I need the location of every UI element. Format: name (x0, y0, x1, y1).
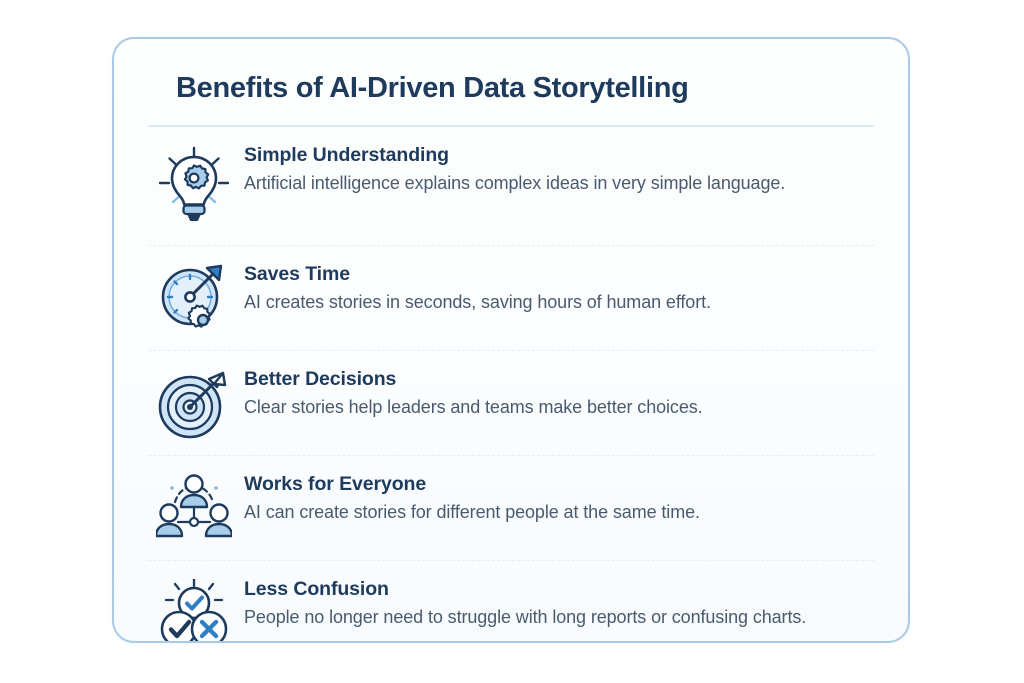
infographic-canvas: Benefits of AI-Driven Data Storytelling (0, 0, 1024, 683)
lightbulb-gear-icon (148, 143, 240, 225)
list-item-description: AI creates stories in seconds, saving ho… (244, 289, 872, 315)
stopwatch-gear-icon (148, 262, 240, 336)
benefits-list: Simple Understanding Artificial intellig… (148, 127, 874, 643)
check-cross-circles-icon (148, 577, 240, 643)
list-item-heading: Simple Understanding (244, 143, 872, 168)
list-item-text: Better Decisions Clear stories help lead… (240, 367, 874, 420)
card-content: Benefits of AI-Driven Data Storytelling (114, 39, 908, 641)
list-item: Less Confusion People no longer need to … (148, 560, 874, 643)
list-item: Simple Understanding Artificial intellig… (148, 127, 874, 245)
list-item-description: Artificial intelligence explains complex… (244, 170, 872, 196)
list-item: Works for Everyone AI can create stories… (148, 455, 874, 560)
list-item-heading: Less Confusion (244, 577, 872, 602)
list-item-heading: Better Decisions (244, 367, 872, 392)
target-arrow-icon (148, 367, 240, 441)
list-item-text: Works for Everyone AI can create stories… (240, 472, 874, 525)
benefits-card: Benefits of AI-Driven Data Storytelling (112, 37, 910, 643)
list-item-description: Clear stories help leaders and teams mak… (244, 394, 872, 420)
list-item-description: AI can create stories for different peop… (244, 499, 872, 525)
list-item: Saves Time AI creates stories in seconds… (148, 245, 874, 350)
list-item: Better Decisions Clear stories help lead… (148, 350, 874, 455)
list-item-heading: Works for Everyone (244, 472, 872, 497)
people-network-icon (148, 472, 240, 546)
list-item-text: Simple Understanding Artificial intellig… (240, 143, 874, 196)
list-item-text: Saves Time AI creates stories in seconds… (240, 262, 874, 315)
page-title: Benefits of AI-Driven Data Storytelling (148, 39, 874, 106)
list-item-text: Less Confusion People no longer need to … (240, 577, 874, 630)
list-item-heading: Saves Time (244, 262, 872, 287)
list-item-description: People no longer need to struggle with l… (244, 604, 872, 630)
